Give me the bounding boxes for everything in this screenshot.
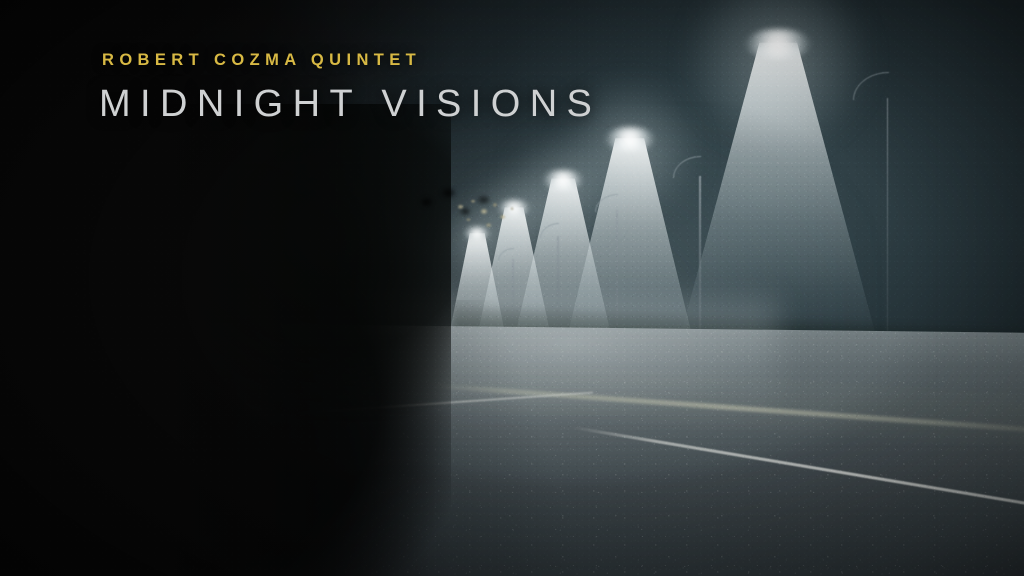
album-art-poster: ROBERT COZMA QUINTET MIDNIGHT VISIONS [0,0,1024,576]
album-title: MIDNIGHT VISIONS [99,85,601,123]
foliage-edge [35,232,141,529]
artist-name: ROBERT COZMA QUINTET [102,52,601,69]
lamp-bulb-head [543,170,583,190]
left-tree-silhouette [0,104,451,576]
lit-leaf-cluster [445,193,523,239]
lamp-bulb-head [605,127,655,151]
lamp-bulb-head [745,29,811,59]
title-block: ROBERT COZMA QUINTET MIDNIGHT VISIONS [102,52,601,123]
